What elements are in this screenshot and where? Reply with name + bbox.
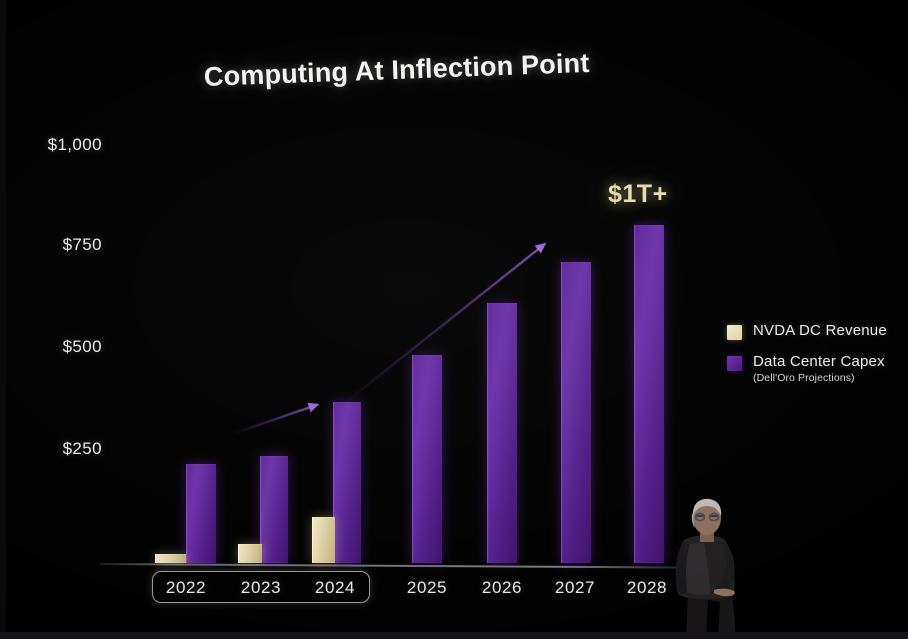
bar-revenue-2024 <box>312 517 335 563</box>
bar-chart-plot-area: $1T+ 2022 2023 2024 2025 2026 2027 2028 <box>0 0 908 639</box>
photo-left-edge <box>0 0 6 639</box>
bar-capex-2026 <box>487 303 517 563</box>
bar-capex-2024 <box>333 402 361 563</box>
bar-revenue-2023 <box>238 544 262 563</box>
presentation-slide-photo: Computing At Inflection Point $1,000 $75… <box>0 0 908 639</box>
bar-capex-2025 <box>412 355 442 563</box>
x-axis-label-2028: 2028 <box>621 578 673 598</box>
x-axis-label-2022: 2022 <box>160 578 212 598</box>
trend-arrow-long <box>347 238 550 400</box>
x-axis-label-2024: 2024 <box>309 578 361 598</box>
chart-legend: NVDA DC Revenue Data Center Capex (Dell'… <box>727 322 897 397</box>
annotation-one-trillion: $1T+ <box>608 180 668 209</box>
legend-sublabel-source: (Dell'Oro Projections) <box>753 372 885 384</box>
trend-arrow-short <box>235 402 322 432</box>
x-axis-label-2027: 2027 <box>549 578 601 598</box>
bar-capex-2023 <box>260 456 288 563</box>
legend-item-data-center-capex: Data Center Capex (Dell'Oro Projections) <box>727 353 897 384</box>
x-axis-label-2023: 2023 <box>235 578 287 598</box>
legend-label-revenue: NVDA DC Revenue <box>753 322 887 339</box>
x-axis-label-2025: 2025 <box>401 578 453 598</box>
legend-swatch-icon-revenue <box>727 325 742 340</box>
bar-capex-2028 <box>634 225 664 563</box>
legend-label-capex: Data Center Capex <box>753 353 885 370</box>
legend-swatch-icon-capex <box>727 356 742 371</box>
x-axis-label-2026: 2026 <box>476 578 528 598</box>
bar-capex-2027 <box>561 262 591 563</box>
x-axis-baseline <box>100 563 690 569</box>
photo-bottom-strip <box>0 632 908 639</box>
bar-capex-2022 <box>186 464 216 563</box>
legend-item-nvda-dc-revenue: NVDA DC Revenue <box>727 322 897 340</box>
bar-revenue-2022 <box>155 554 186 563</box>
